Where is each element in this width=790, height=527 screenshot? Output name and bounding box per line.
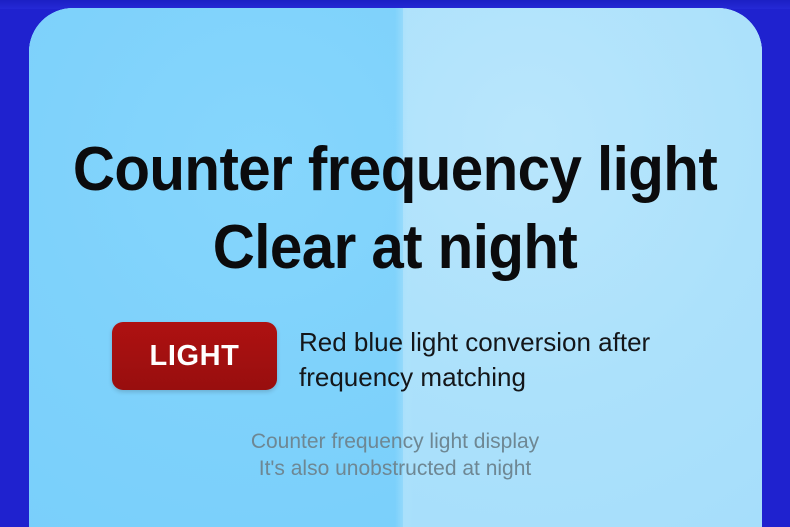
light-badge: LIGHT — [112, 322, 277, 390]
footnote-line-1: Counter frequency light display — [0, 428, 790, 455]
feature-row: LIGHT Red blue light conversion after fr… — [112, 322, 650, 395]
feature-description-line-1: Red blue light conversion after — [299, 325, 650, 360]
promo-banner: Counter frequency light Clear at night L… — [0, 0, 790, 527]
light-badge-label: LIGHT — [150, 340, 240, 373]
headline-line-1: Counter frequency light — [24, 131, 767, 209]
feature-description: Red blue light conversion after frequenc… — [299, 322, 650, 395]
footnote: Counter frequency light display It's als… — [0, 428, 790, 482]
footnote-line-2: It's also unobstructed at night — [0, 455, 790, 482]
banner-content: Counter frequency light Clear at night L… — [0, 0, 790, 527]
feature-description-line-2: frequency matching — [299, 360, 650, 395]
headline: Counter frequency light Clear at night — [24, 131, 767, 287]
headline-line-2: Clear at night — [24, 209, 767, 287]
